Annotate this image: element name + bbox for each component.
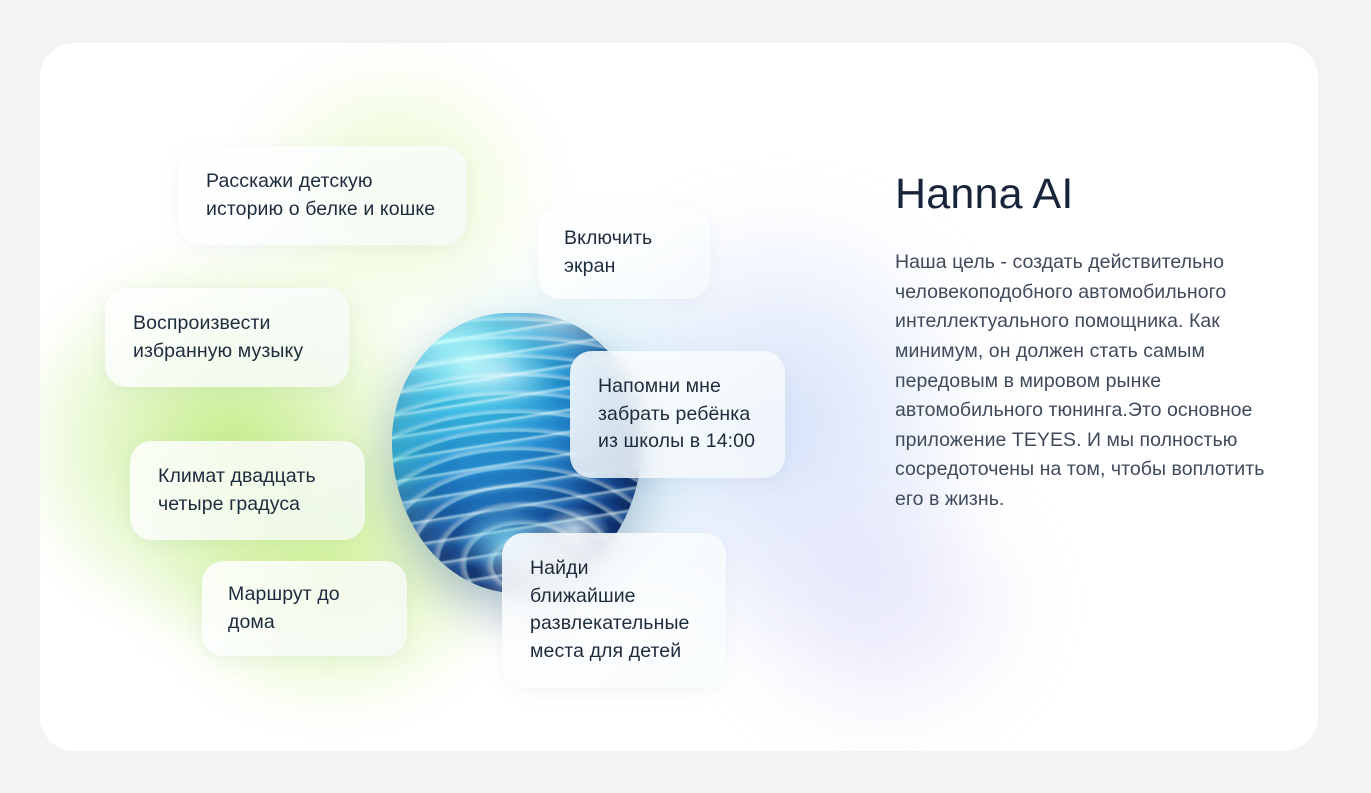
suggestion-bubble-reminder[interactable]: Напомни мне забрать ребёнка из школы в 1… xyxy=(570,351,785,478)
page-root: Расскажи детскую историю о белке и кошке… xyxy=(0,0,1371,793)
page-title: Hanna AI xyxy=(895,173,1295,216)
hero-card: Расскажи детскую историю о белке и кошке… xyxy=(40,43,1318,751)
info-column: Hanna AI Наша цель - создать действитель… xyxy=(895,173,1295,515)
orb-gloss-highlight xyxy=(422,327,577,422)
suggestion-bubble-screen[interactable]: Включить экран xyxy=(538,206,710,299)
suggestion-bubble-route[interactable]: Маршрут до дома xyxy=(202,561,407,656)
suggestion-bubble-music[interactable]: Воспроизвести избранную музыку xyxy=(105,288,349,387)
info-description: Наша цель - создать действительно челове… xyxy=(895,248,1295,515)
suggestion-bubble-places[interactable]: Найди ближайшие развлекательные места дл… xyxy=(502,533,726,688)
suggestion-bubble-climate[interactable]: Климат двадцать четыре градуса xyxy=(130,441,365,540)
suggestion-bubble-story[interactable]: Расскажи детскую историю о белке и кошке xyxy=(178,146,466,245)
